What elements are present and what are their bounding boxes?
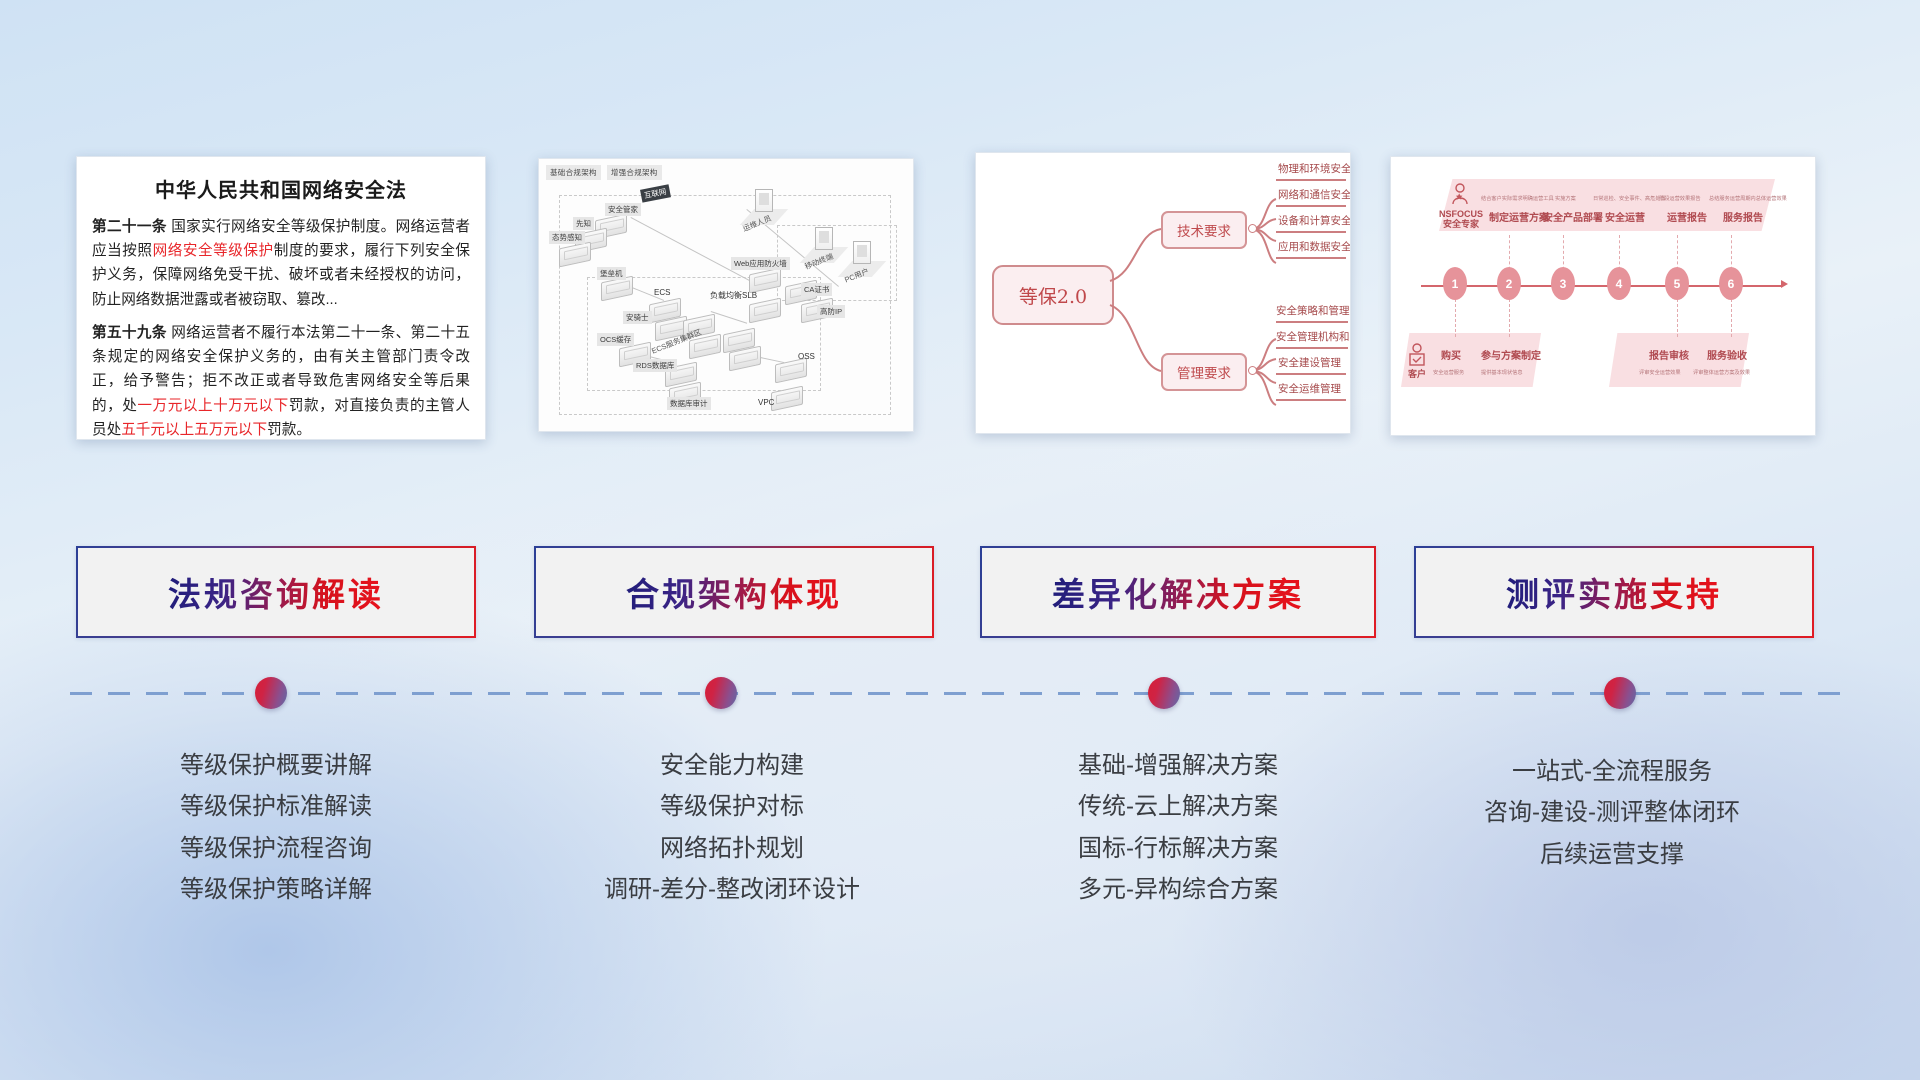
list-item: 传统-云上解决方案 xyxy=(978,786,1378,827)
mindmap-underline-mgmt-4 xyxy=(1276,399,1346,401)
label-anqishi: 安骑士 xyxy=(623,311,652,324)
lead-line-c1 xyxy=(1455,299,1456,337)
label-ddos: 高防IP xyxy=(817,305,845,318)
list-item: 基础-增强解决方案 xyxy=(978,745,1378,786)
label-threat-aware: 先知 xyxy=(573,217,594,230)
list-item: 等级保护策略详解 xyxy=(76,869,476,910)
provider-label: NSFOCUS 安全专家 xyxy=(1431,209,1491,230)
card-dengbao-mindmap[interactable]: 等保2.0 技术要求 管理要求 物理和环境安全 xyxy=(975,152,1351,434)
architecture-tabs: 基础合规架构 增强合规架构 xyxy=(546,165,662,180)
law-article-59-label: 第五十九条 xyxy=(92,325,167,341)
provider-step-6-sub: 总结服务运营周期内总体运营效果 xyxy=(1709,195,1787,202)
provider-step-6-caption: 服务报告 xyxy=(1723,209,1763,224)
list-item: 国标-行标解决方案 xyxy=(978,828,1378,869)
card-cybersecurity-law[interactable]: 中华人民共和国网络安全法 第二十一条 国家实行网络安全等级保护制度。网络运营者应… xyxy=(76,156,486,440)
provider-step-4-caption: 安全运营 xyxy=(1605,209,1645,224)
label-vpc: VPC xyxy=(755,397,777,408)
label-slb: 负载均衡SLB xyxy=(707,289,760,302)
law-article-59-highlight-2: 五千元以上五万元以下 xyxy=(121,422,267,438)
law-title: 中华人民共和国网络安全法 xyxy=(92,174,470,203)
mindmap-branch-technical: 技术要求 xyxy=(1161,211,1247,249)
customer-step-4-caption: 服务验收 xyxy=(1707,347,1747,362)
label-ocs: OCS缓存 xyxy=(597,333,634,346)
headline-box-regulation-consulting[interactable]: 法规咨询解读 xyxy=(76,546,476,638)
mindmap-leaf-tech-2: 网络和通信安全 xyxy=(1278,187,1351,202)
lead-line-c2 xyxy=(1509,299,1510,337)
list-item: 多元-异构综合方案 xyxy=(978,869,1378,910)
mindmap-leaf-mgmt-3: 安全建设管理 xyxy=(1278,355,1341,370)
timeline-rail xyxy=(70,691,1850,695)
provider-step-2-caption: 制定运营方案 xyxy=(1489,209,1549,224)
label-situation-aware: 态势感知 xyxy=(549,231,585,244)
label-ca: CA证书 xyxy=(801,283,832,296)
customer-icon xyxy=(1407,343,1427,369)
mindmap-leaf-mgmt-1: 安全策略和管理制度 xyxy=(1276,303,1351,318)
lead-line-c3 xyxy=(1677,299,1678,337)
detail-column-4: 一站式-全流程服务 咨询-建设-测评整体闭环 后续运营支撑 xyxy=(1410,751,1814,875)
mindmap-collapse-dot-management[interactable] xyxy=(1248,366,1257,375)
service-timeline: NSFOCUS 安全专家 客户 制定运营方案 结合客户实际需求明确运营工具 安全… xyxy=(1391,157,1815,435)
law-article-59-highlight-1: 一万元以上十万元以下 xyxy=(137,398,288,414)
list-item: 等级保护概要讲解 xyxy=(76,745,476,786)
detail-column-3: 基础-增强解决方案 传统-云上解决方案 国标-行标解决方案 多元-异构综合方案 xyxy=(978,745,1378,910)
headline-row: 法规咨询解读 合规架构体现 差异化解决方案 测评实施支持 xyxy=(0,546,1920,652)
headline-box-differentiated-solutions[interactable]: 差异化解决方案 xyxy=(980,546,1376,638)
list-item: 等级保护对标 xyxy=(530,786,934,827)
list-item: 等级保护标准解读 xyxy=(76,786,476,827)
mindmap-leaf-tech-3: 设备和计算安全 xyxy=(1278,213,1351,228)
timeline-step-2[interactable]: 2 xyxy=(1497,267,1521,300)
mindmap: 等保2.0 技术要求 管理要求 物理和环境安全 xyxy=(976,153,1350,433)
timeline-node-4[interactable] xyxy=(1604,677,1636,709)
detail-list-row: 等级保护概要讲解 等级保护标准解读 等级保护流程咨询 等级保护策略详解 安全能力… xyxy=(0,735,1920,955)
timeline-node-2[interactable] xyxy=(705,677,737,709)
provider-step-3-caption: 安全产品部署 xyxy=(1543,209,1603,224)
mindmap-leaf-mgmt-4: 安全运维管理 xyxy=(1278,381,1341,396)
list-item: 网络拓扑规划 xyxy=(530,828,934,869)
headline-label-2: 合规架构体现 xyxy=(626,568,842,616)
timeline-step-5[interactable]: 5 xyxy=(1665,267,1689,300)
list-item: 一站式-全流程服务 xyxy=(1410,751,1814,792)
customer-step-1-caption: 购买 xyxy=(1441,347,1461,362)
provider-label-line2: 安全专家 xyxy=(1431,219,1491,229)
customer-step-3-caption: 报告审核 xyxy=(1649,347,1689,362)
architecture-diagram: 基础合规架构 增强合规架构 互联网 安全管家 先知 xyxy=(539,159,913,431)
detail-column-2: 安全能力构建 等级保护对标 网络拓扑规划 调研-差分-整改闭环设计 xyxy=(530,745,934,910)
customer-step-2-caption: 参与方案制定 xyxy=(1481,347,1541,362)
slide-canvas: 中华人民共和国网络安全法 第二十一条 国家实行网络安全等级保护制度。网络运营者应… xyxy=(0,0,1920,1080)
card-cloud-architecture[interactable]: 基础合规架构 增强合规架构 互联网 安全管家 先知 xyxy=(538,158,914,432)
customer-label: 客户 xyxy=(1401,369,1433,379)
headline-label-1: 法规咨询解读 xyxy=(168,568,384,616)
tab-basic-architecture[interactable]: 基础合规架构 xyxy=(546,165,601,180)
law-article-59: 第五十九条 网络运营者不履行本法第二十一条、第二十五条规定的网络安全保护义务的，… xyxy=(92,321,470,440)
law-article-59-text-end: 罚款。 xyxy=(267,422,311,438)
detail-column-1: 等级保护概要讲解 等级保护标准解读 等级保护流程咨询 等级保护策略详解 xyxy=(76,745,476,910)
provider-step-2-sub: 结合客户实际需求明确运营工具 xyxy=(1481,195,1554,202)
label-bastion: 堡垒机 xyxy=(597,267,626,280)
law-article-21-label: 第二十一条 xyxy=(92,219,167,235)
screenshot-card-row: 中华人民共和国网络安全法 第二十一条 国家实行网络安全等级保护制度。网络运营者应… xyxy=(0,0,1920,460)
label-oss: OSS xyxy=(795,351,818,362)
expert-icon xyxy=(1449,183,1471,207)
timeline-node-1[interactable] xyxy=(255,677,287,709)
timeline-arrow-icon xyxy=(1781,280,1788,288)
timeline-step-4[interactable]: 4 xyxy=(1607,267,1631,300)
list-item: 安全能力构建 xyxy=(530,745,934,786)
mindmap-underline-tech-2 xyxy=(1276,205,1346,207)
mindmap-branch-management: 管理要求 xyxy=(1161,353,1247,391)
headline-label-4: 测评实施支持 xyxy=(1506,568,1722,616)
customer-step-1-sub: 安全运营服务 xyxy=(1433,369,1464,376)
list-item: 后续运营支撑 xyxy=(1410,834,1814,875)
mindmap-underline-tech-1 xyxy=(1276,179,1346,181)
customer-step-3-sub: 评审安全运营效果 xyxy=(1639,369,1681,376)
mindmap-collapse-dot-technical[interactable] xyxy=(1248,224,1257,233)
provider-step-3-sub: 实施方案 xyxy=(1555,195,1576,202)
mindmap-underline-mgmt-3 xyxy=(1276,373,1346,375)
mindmap-underline-mgmt-2 xyxy=(1276,347,1348,349)
law-article-21: 第二十一条 国家实行网络安全等级保护制度。网络运营者应当按照网络安全等级保护制度… xyxy=(92,215,470,312)
customer-step-2-sub: 提供基本现状信息 xyxy=(1481,369,1523,376)
timeline-node-3[interactable] xyxy=(1148,677,1180,709)
label-db-audit: 数据库审计 xyxy=(667,397,711,410)
card-service-timeline[interactable]: NSFOCUS 安全专家 客户 制定运营方案 结合客户实际需求明确运营工具 安全… xyxy=(1390,156,1816,436)
mindmap-leaf-tech-4: 应用和数据安全 xyxy=(1278,239,1351,254)
headline-box-assessment-support[interactable]: 测评实施支持 xyxy=(1414,546,1814,638)
label-rds: RDS数据库 xyxy=(633,359,677,372)
icon-pc-user xyxy=(853,241,871,264)
list-item: 等级保护流程咨询 xyxy=(76,828,476,869)
headline-label-3: 差异化解决方案 xyxy=(1052,568,1304,616)
headline-box-compliance-architecture[interactable]: 合规架构体现 xyxy=(534,546,934,638)
timeline-step-3[interactable]: 3 xyxy=(1551,267,1575,300)
icon-mobile-user xyxy=(815,227,833,250)
icon-ops-user xyxy=(755,189,773,212)
mindmap-underline-tech-4 xyxy=(1276,257,1346,259)
label-ecs: ECS xyxy=(651,287,673,298)
list-item: 咨询-建设-测评整体闭环 xyxy=(1410,792,1814,833)
mindmap-underline-mgmt-1 xyxy=(1276,321,1348,323)
mindmap-underline-tech-3 xyxy=(1276,231,1346,233)
customer-label-text: 客户 xyxy=(1401,369,1433,379)
list-item: 调研-差分-整改闭环设计 xyxy=(530,869,934,910)
label-waf: Web应用防火墙 xyxy=(731,257,790,270)
timeline-step-6[interactable]: 6 xyxy=(1719,267,1743,300)
tab-enhanced-architecture[interactable]: 增强合规架构 xyxy=(607,165,662,180)
lead-line-c4 xyxy=(1731,299,1732,337)
provider-step-5-sub: 阶段运营效果报告 xyxy=(1659,195,1701,202)
provider-label-line1: NSFOCUS xyxy=(1431,209,1491,219)
timeline-step-1[interactable]: 1 xyxy=(1443,267,1467,300)
law-body: 中华人民共和国网络安全法 第二十一条 国家实行网络安全等级保护制度。网络运营者应… xyxy=(77,157,485,439)
law-article-21-highlight: 网络安全等级保护 xyxy=(153,243,274,259)
mindmap-leaf-tech-1: 物理和环境安全 xyxy=(1278,161,1351,176)
provider-step-4-sub: 日常巡检、安全事件、高危处置 xyxy=(1593,195,1666,202)
label-security-butler: 安全管家 xyxy=(605,203,641,216)
provider-step-5-caption: 运营报告 xyxy=(1667,209,1707,224)
mindmap-leaf-mgmt-2: 安全管理机构和人员 xyxy=(1276,329,1351,344)
customer-step-4-sub: 评审整体运营方案及效果 xyxy=(1693,369,1750,376)
